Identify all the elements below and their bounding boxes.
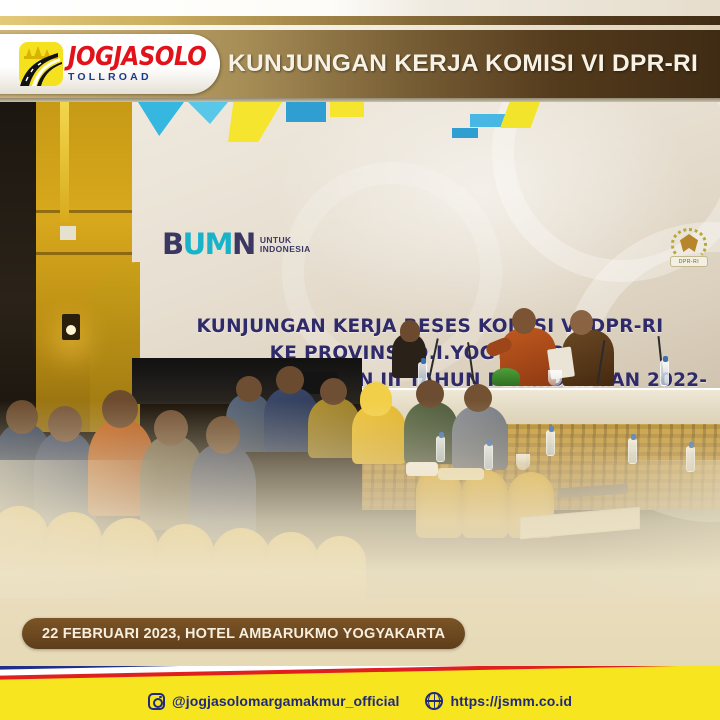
website-url: https://jsmm.co.id — [450, 693, 572, 709]
wall-seam — [36, 210, 132, 213]
page-title: KUNJUNGAN KERJA KOMISI VI DPR-RI — [228, 30, 698, 98]
tollroad-logo-icon — [18, 41, 64, 87]
bumn-tagline-line2: INDONESIA — [260, 245, 311, 254]
drinking-glass — [548, 370, 562, 386]
emblem-ribbon: DPR-RI — [670, 256, 708, 267]
wall-seam — [36, 252, 132, 255]
speaker-center-head — [512, 308, 536, 334]
bumn-letters: BUMN — [162, 227, 255, 261]
top-gold-strip — [0, 16, 720, 25]
bumn-tagline: UNTUK INDONESIA — [260, 236, 311, 254]
event-caption: 22 FEBRUARI 2023, HOTEL AMBARUKMO YOGYAK… — [22, 618, 465, 649]
logo-title: JOGJASOLO — [68, 44, 206, 70]
bumn-logo: BUMN UNTUK INDONESIA — [162, 230, 311, 259]
event-photo: BUMN UNTUK INDONESIA DPR-RI KUNJUNGAN KE… — [0, 102, 720, 610]
wall-panel-accent — [60, 226, 76, 240]
instagram-icon — [148, 693, 165, 710]
top-white-strip — [0, 0, 720, 16]
footer-contacts: @jogjasolomargamakmur_official https://j… — [0, 682, 720, 720]
banner-line-1: KUNJUNGAN KERJA RESES KOMISI VI DPR-RI — [150, 314, 710, 341]
brand-logo[interactable]: JOGJASOLO TOLLROAD — [18, 40, 208, 88]
attendee-head — [236, 376, 262, 402]
website-contact[interactable]: https://jsmm.co.id — [425, 692, 572, 710]
globe-icon — [425, 692, 443, 710]
logo-subtitle: TOLLROAD — [68, 72, 206, 83]
logo-wordmark: JOGJASOLO TOLLROAD — [68, 46, 206, 83]
poster-root: JOGJASOLO TOLLROAD KUNJUNGAN KERJA KOMIS… — [0, 0, 720, 720]
photo-side-vignette — [0, 460, 720, 610]
bumn-wordmark: BUMN — [162, 230, 255, 259]
backdrop-ribbon — [452, 128, 478, 138]
speaker-right-head — [570, 310, 593, 335]
footer-bar: @jogjasolomargamakmur_official https://j… — [0, 666, 720, 720]
garuda-dpr-ri-emblem: DPR-RI — [668, 226, 710, 270]
backdrop-ribbon — [330, 102, 364, 117]
instagram-contact[interactable]: @jogjasolomargamakmur_official — [148, 693, 400, 710]
table-flowers — [492, 368, 520, 386]
water-bottle — [660, 360, 669, 386]
attendee-head — [276, 366, 304, 394]
wall-sconce-icon — [62, 314, 80, 340]
speaker-woman-head — [400, 320, 420, 342]
wall-light-strip — [60, 102, 69, 222]
backdrop-ribbon — [286, 102, 326, 122]
room-wall-dark — [0, 102, 36, 432]
instagram-handle: @jogjasolomargamakmur_official — [172, 693, 400, 709]
